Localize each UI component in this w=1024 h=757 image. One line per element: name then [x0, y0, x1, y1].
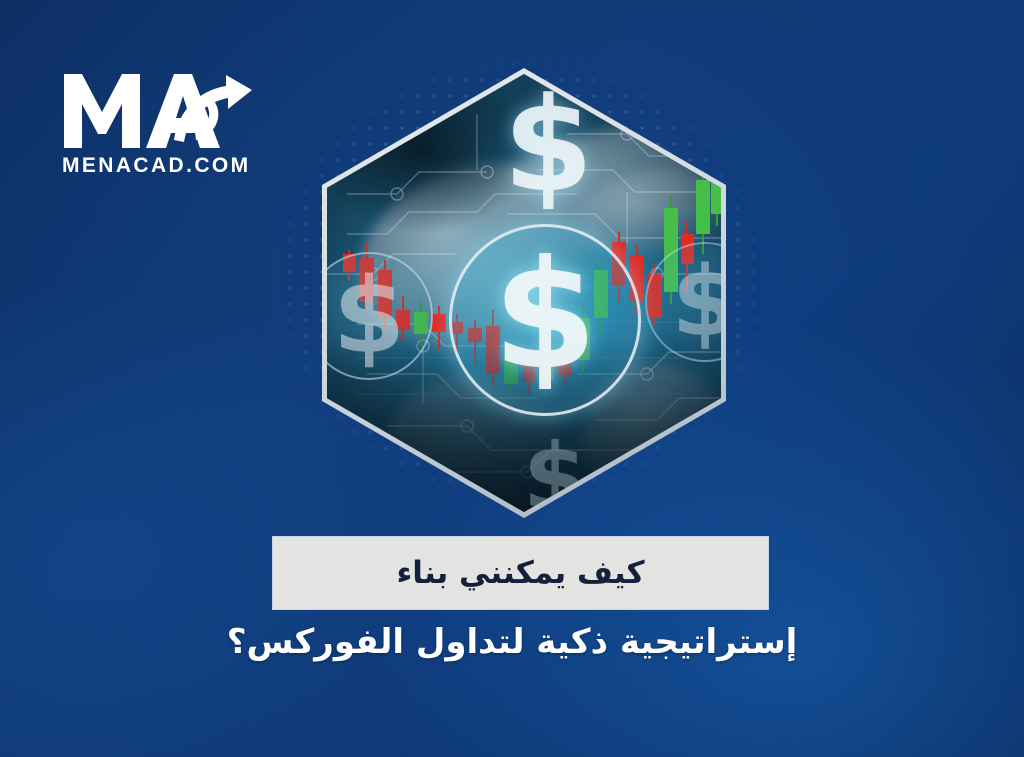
- center-dollar-coin: $: [449, 224, 641, 416]
- headline-band: كيف يمكنني بناء: [272, 536, 769, 610]
- left-dollar-glyph: $: [333, 264, 405, 368]
- center-dollar-glyph: $: [493, 241, 597, 391]
- hexagon-image: $ $ $ $ $: [327, 74, 721, 512]
- headline-line-1: كيف يمكنني بناء: [396, 555, 644, 591]
- forex-article-banner: MENACAD.COM: [0, 0, 1024, 757]
- logo-domain-text: MENACAD.COM: [62, 154, 292, 178]
- brand-logo[interactable]: MENACAD.COM: [62, 72, 292, 190]
- headline-line-2: إستراتيجية ذكية لتداول الفوركس؟: [0, 622, 1024, 662]
- top-dollar-sign: $: [503, 80, 593, 210]
- logo-mark: [62, 72, 262, 150]
- hexagon-artwork: $ $ $ $ $: [322, 68, 726, 518]
- right-dollar-glyph: $: [672, 254, 721, 350]
